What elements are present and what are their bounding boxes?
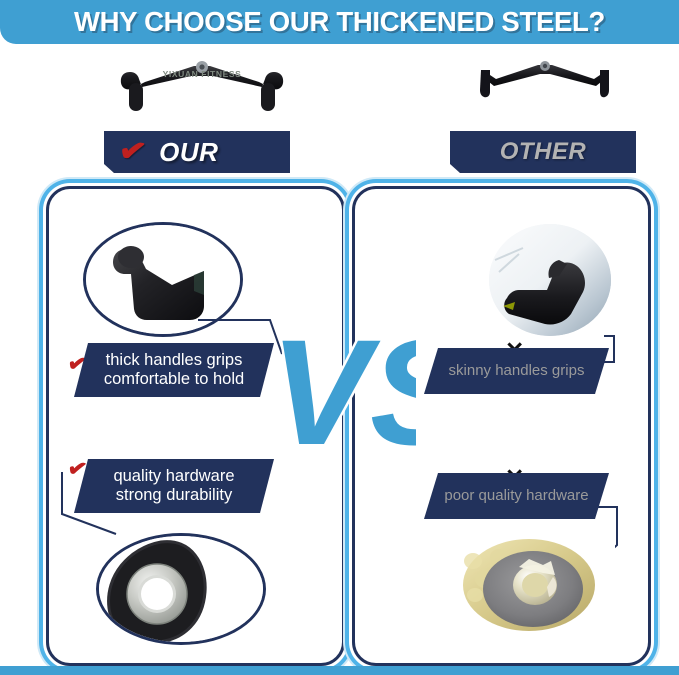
page-title: WHY CHOOSE OUR THICKENED STEEL? [0, 0, 679, 44]
hero-brand-text: YIXUAN FITNESS [163, 69, 242, 79]
column-banner-our-label: OUR [159, 137, 218, 168]
column-banner-other: OTHER [450, 131, 636, 173]
versus-graphic: VS [266, 296, 416, 482]
photo-other-handle [489, 224, 611, 336]
callout-our-feature-1: thick handles grips comfortable to hold [74, 343, 274, 397]
hero-product-our: YIXUAN FITNESS [112, 58, 292, 116]
callout-line-1: quality hardware [113, 467, 234, 486]
callout-line-2: comfortable to hold [104, 370, 244, 389]
photo-other-hardware [455, 531, 615, 643]
column-banner-other-label: OTHER [500, 138, 587, 166]
callout-line-1: poor quality hardware [444, 487, 588, 504]
callout-line-1: skinny handles grips [449, 362, 585, 379]
callout-line-1: thick handles grips [106, 351, 243, 370]
versus-label: VS [270, 308, 416, 476]
callout-other-feature-2: poor quality hardware [424, 473, 609, 519]
callout-other-feature-1: skinny handles grips [424, 348, 609, 394]
callout-line-2: strong durability [116, 486, 232, 505]
column-banner-our: ✔ OUR [104, 131, 290, 173]
callout-our-feature-2: quality hardware strong durability [74, 459, 274, 513]
hero-product-other [470, 58, 620, 110]
photo-our-hardware [96, 533, 266, 645]
bottom-accent-bar [0, 666, 679, 675]
check-mark-icon: ✔ [117, 135, 149, 169]
